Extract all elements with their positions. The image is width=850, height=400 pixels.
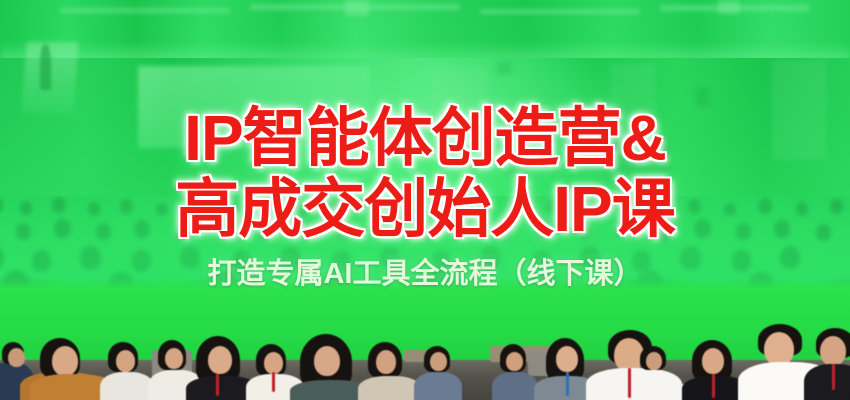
seminar-attendees-photo xyxy=(0,288,850,400)
course-promo-banner: IP智能体创造营& 高成交创始人IP课 打造专属AI工具全流程（线下课） xyxy=(0,0,850,400)
conference-hall-photo xyxy=(0,0,850,300)
wall-panel xyxy=(430,66,488,152)
wall-speaker xyxy=(696,88,709,106)
ceiling-projector xyxy=(345,0,369,16)
hall-projection-screen xyxy=(138,66,370,148)
wall-speaker xyxy=(497,62,511,74)
hall-flag xyxy=(40,44,51,90)
hall-back-wall xyxy=(0,58,850,208)
ceiling-light xyxy=(60,8,230,13)
ceiling-light xyxy=(480,9,640,14)
wall-panel xyxy=(772,60,826,160)
wall-plant xyxy=(600,140,670,174)
wall-fixture xyxy=(504,150,526,176)
hall-audience-crowd xyxy=(0,196,850,300)
ceiling-projector xyxy=(718,0,740,14)
